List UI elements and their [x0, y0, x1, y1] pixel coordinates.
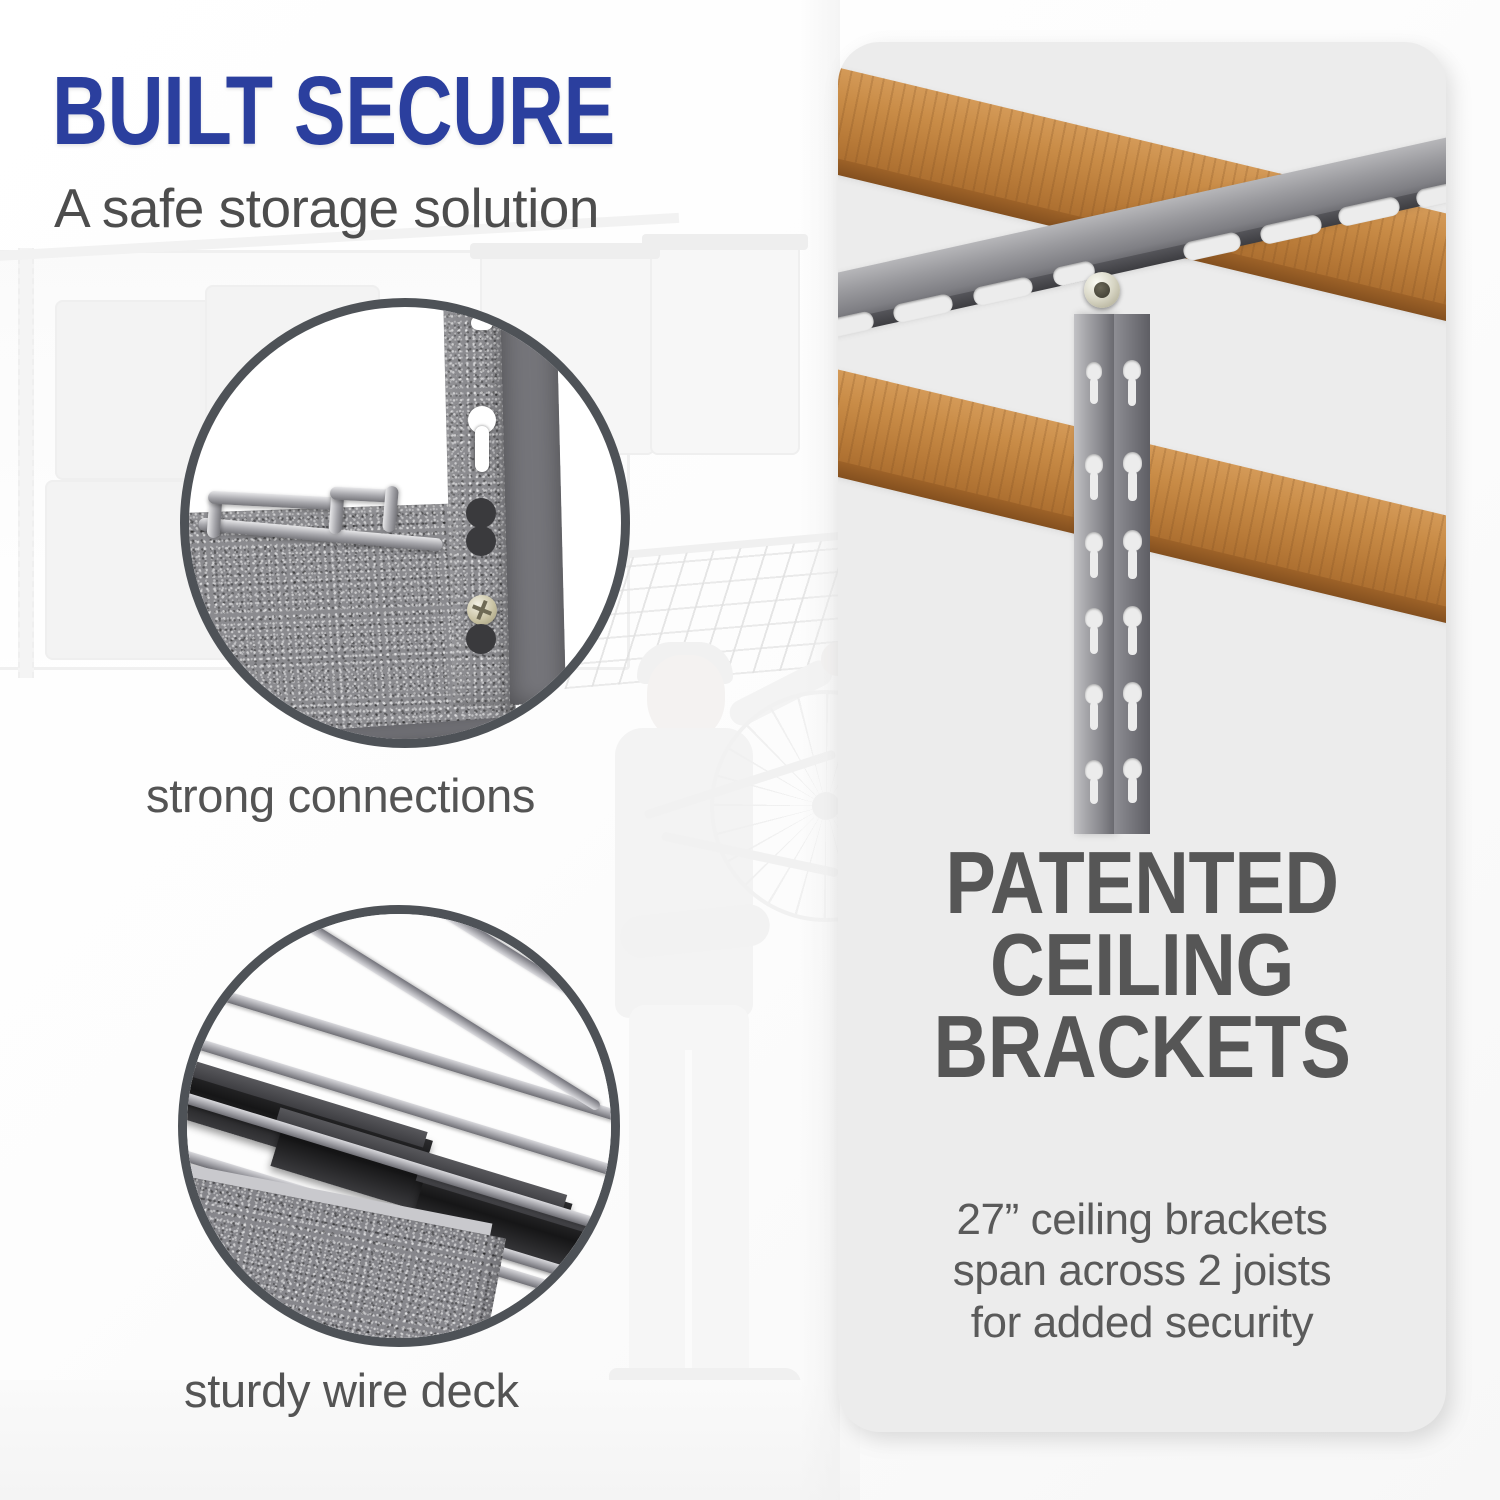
keyhole-slot-stem [475, 426, 489, 472]
upright-post-side-face [500, 298, 566, 708]
post-keyhole [1085, 760, 1103, 780]
panel-title-line: BRACKETS [881, 1006, 1404, 1088]
marketing-infographic: BUILT SECURE A safe storage solution [0, 0, 1500, 1500]
inset-photo-media [180, 298, 630, 748]
panel-subtitle-line: for added security [838, 1297, 1446, 1348]
post-keyhole-stem [1128, 471, 1137, 501]
post-keyhole [1123, 606, 1142, 627]
person-leg-gap [685, 1050, 692, 1370]
post-keyhole-stem [1090, 778, 1098, 804]
post-keyhole-stem [1128, 777, 1137, 803]
post-keyhole-stem [1090, 550, 1098, 578]
post-keyhole-stem [1090, 378, 1098, 404]
post-keyhole-stem [1090, 702, 1098, 730]
post-keyhole-stem [1090, 472, 1098, 500]
inset-photo-strong-connections [180, 298, 630, 748]
background-wall-edge [800, 0, 840, 1500]
post-keyhole-stem [1128, 701, 1137, 731]
inset-photo-media [178, 905, 620, 1347]
panel-title-line: CEILING [881, 924, 1404, 1006]
keyhole-notch [466, 526, 496, 556]
panel-subtitle: 27” ceiling brackets span across 2 joist… [838, 1194, 1446, 1348]
inset-photo-sturdy-wire-deck [178, 905, 620, 1347]
keyhole-notch [466, 624, 496, 654]
post-keyhole [1085, 532, 1103, 552]
post-keyhole [1085, 454, 1103, 474]
post-keyhole-stem [1090, 626, 1098, 654]
bracket-bolt [1084, 272, 1120, 308]
panel-subtitle-line: 27” ceiling brackets [838, 1194, 1446, 1245]
background-storage-bin [650, 240, 800, 455]
post-keyhole-stem [1128, 625, 1137, 655]
background-bin-lid [642, 234, 808, 250]
caption-sturdy-wire-deck: sturdy wire deck [184, 1363, 519, 1418]
background-bin-lid [470, 243, 660, 259]
panel-title-line: PATENTED [881, 842, 1404, 924]
ceiling-bracket-panel: PATENTED CEILING BRACKETS 27” ceiling br… [838, 42, 1446, 1432]
panel-title: PATENTED CEILING BRACKETS [838, 842, 1446, 1087]
caption-strong-connections: strong connections [146, 768, 535, 823]
post-keyhole [1123, 360, 1141, 380]
wire-deck-rod-top [208, 491, 339, 511]
panel-subtitle-line: span across 2 joists [838, 1245, 1446, 1296]
post-keyhole-stem [1128, 549, 1137, 579]
background-shelf-post [18, 248, 34, 678]
page-subtitle: A safe storage solution [54, 176, 599, 240]
post-keyhole [1123, 758, 1142, 779]
post-keyhole [1085, 608, 1103, 628]
keyhole-slot [471, 316, 493, 330]
post-keyhole [1123, 452, 1142, 473]
screw-head [467, 595, 497, 625]
post-keyhole [1085, 684, 1103, 704]
post-keyhole [1123, 682, 1142, 703]
keyhole-notch [466, 498, 496, 528]
post-keyhole [1123, 530, 1142, 551]
page-title: BUILT SECURE [52, 62, 615, 159]
post-keyhole-stem [1128, 378, 1136, 406]
